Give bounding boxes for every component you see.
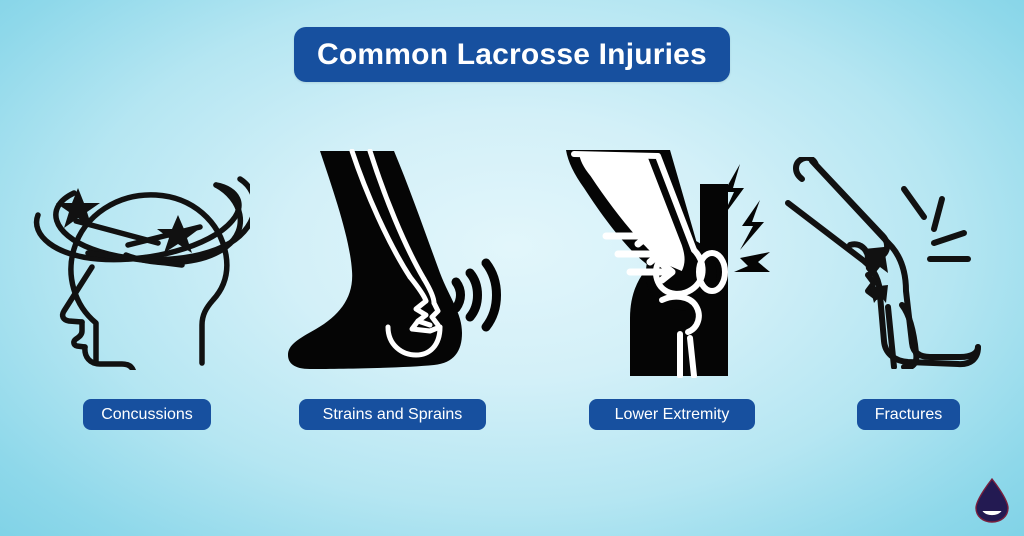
icon-cell-strains: [278, 140, 510, 385]
label-badge-concussions: Concussions: [83, 399, 211, 430]
pain-line-icon: [904, 189, 968, 259]
label-badge-fractures: Fractures: [857, 399, 960, 430]
label-text: Fractures: [875, 407, 943, 423]
label-text: Strains and Sprains: [323, 407, 463, 423]
page-title: Common Lacrosse Injuries: [317, 38, 707, 72]
title-badge: Common Lacrosse Injuries: [294, 27, 730, 82]
bone-fracture-icon: [782, 157, 994, 369]
label-badge-lower-extremity: Lower Extremity: [589, 399, 755, 430]
head-concussion-icon: [30, 155, 250, 370]
label-badge-strains: Strains and Sprains: [299, 399, 486, 430]
label-text: Concussions: [101, 407, 193, 423]
knee-injury-icon: [544, 148, 776, 378]
icon-cell-concussions: [24, 140, 256, 385]
icon-cell-lower-extremity: [540, 140, 780, 385]
ankle-sprain-icon: [284, 149, 504, 377]
pain-wave-icon: [456, 263, 497, 327]
icon-cell-fractures: [776, 140, 1000, 385]
lightning-bolt-icon: [722, 164, 770, 272]
teardrop-logo: [975, 478, 1009, 523]
infographic-poster: Common Lacrosse Injuries: [0, 0, 1024, 536]
label-text: Lower Extremity: [615, 407, 730, 423]
